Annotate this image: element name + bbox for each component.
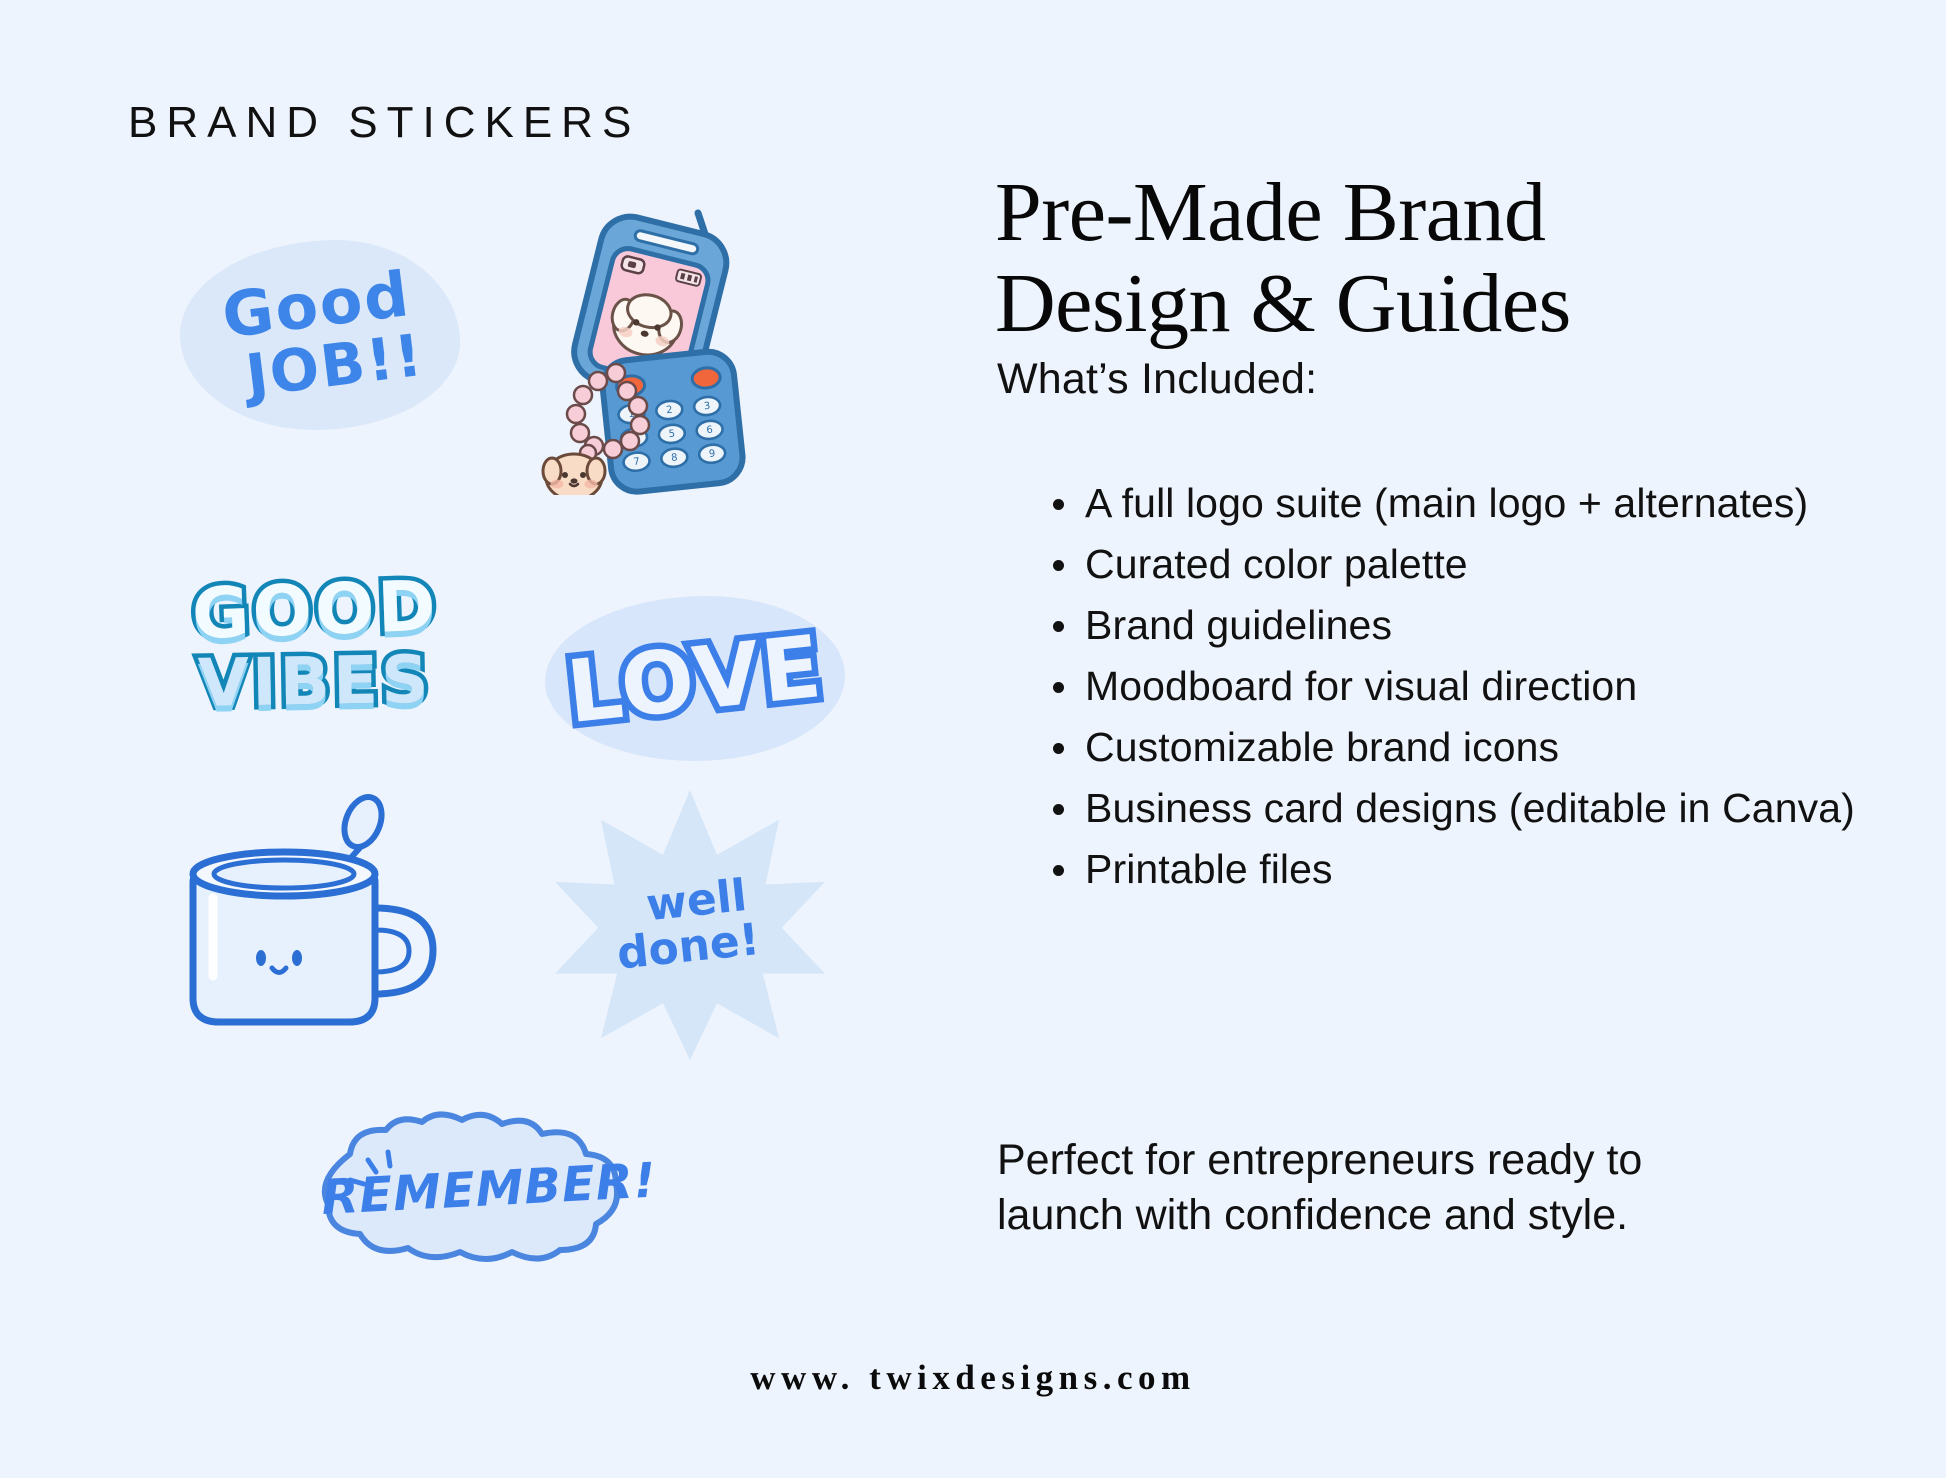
good-vibes-lettering: GOOD VIBES	[165, 550, 465, 740]
list-item: Moodboard for visual direction	[1085, 661, 1905, 711]
svg-text:6: 6	[706, 425, 713, 437]
website-url: www. twixdesigns.com	[0, 1358, 1946, 1398]
list-item: Business card designs (editable in Canva…	[1085, 783, 1905, 833]
good-job-lettering: Good JOB!!	[169, 224, 470, 447]
good-job-line-2: JOB!!	[243, 329, 426, 404]
list-item: Brand guidelines	[1085, 600, 1905, 650]
good-vibes-line-2: VIBES	[198, 647, 433, 717]
feature-list: A full logo suite (main logo + alternate…	[1039, 478, 1905, 905]
svg-text:2: 2	[666, 405, 673, 417]
sticker-remember: REMEMBER!	[290, 1110, 660, 1270]
svg-text:7: 7	[633, 456, 640, 468]
list-item: A full logo suite (main logo + alternate…	[1085, 478, 1905, 528]
well-done-line-2: done!	[615, 918, 762, 978]
good-vibes-line-1: GOOD	[191, 571, 440, 650]
sticker-flip-phone: 123 456 789	[530, 205, 800, 495]
list-item: Curated color palette	[1085, 539, 1905, 589]
sticker-good-vibes: GOOD VIBES	[165, 550, 465, 740]
list-item: Printable files	[1085, 844, 1905, 894]
svg-text:8: 8	[671, 452, 678, 464]
svg-text:3: 3	[703, 401, 710, 413]
sticker-good-job: Good JOB!!	[180, 240, 460, 430]
svg-text:9: 9	[708, 448, 715, 460]
whats-included-heading: What’s Included:	[997, 355, 1317, 404]
well-done-lettering: well done!	[542, 777, 839, 1074]
sticker-love: LOVE	[545, 590, 845, 770]
mug-icon	[165, 790, 455, 1040]
sticker-showcase-column: BRAND STICKERS Good JOB!!	[0, 0, 790, 1478]
remember-lettering: REMEMBER!	[300, 1100, 678, 1279]
poster-canvas: BRAND STICKERS Good JOB!!	[0, 0, 1946, 1478]
closing-paragraph: Perfect for entrepreneurs ready to launc…	[997, 1133, 1697, 1242]
page-title: Pre-Made Brand Design & Guides	[995, 168, 1675, 349]
list-item: Customizable brand icons	[1085, 722, 1905, 772]
product-details-column: Pre-Made Brand Design & Guides What’s In…	[995, 0, 1855, 1478]
sticker-mug	[165, 790, 455, 1040]
section-label-brand-stickers: BRAND STICKERS	[128, 98, 640, 148]
svg-text:5: 5	[668, 429, 675, 441]
sticker-well-done: well done!	[555, 790, 825, 1060]
love-lettering: LOVE	[536, 575, 853, 785]
flip-phone-icon: 123 456 789	[530, 205, 800, 495]
